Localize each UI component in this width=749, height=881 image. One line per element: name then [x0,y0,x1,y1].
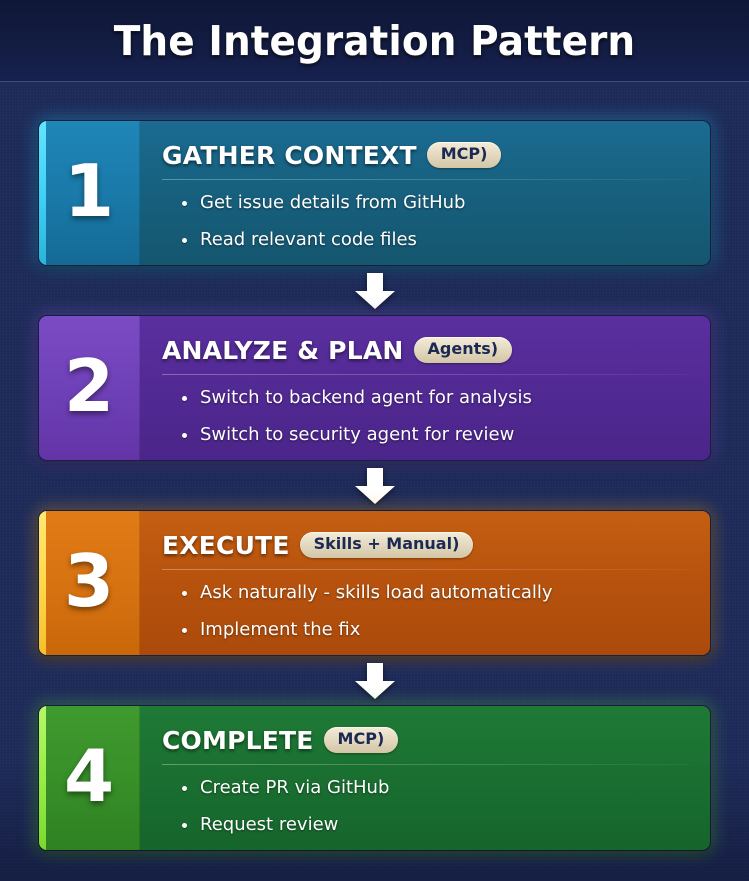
step-badge: MCP) [324,727,399,753]
step-number-panel: 4 [39,706,140,850]
step-body: COMPLETEMCP)Create PR via GitHubRequest … [140,706,710,850]
slide-canvas: The Integration Pattern 1GATHER CONTEXTM… [0,0,749,881]
step-list: 1GATHER CONTEXTMCP)Get issue details fro… [0,82,749,851]
step-card-3[interactable]: 3EXECUTESkills + Manual)Ask naturally - … [38,510,711,656]
step-body: GATHER CONTEXTMCP)Get issue details from… [140,121,710,265]
step-bullet: Switch to backend agent for analysis [180,387,690,410]
step-bullet-list: Create PR via GitHubRequest review [162,765,690,836]
step-heading: ANALYZE & PLAN [162,336,404,365]
step-bullet: Request review [180,814,690,837]
step-heading-row: ANALYZE & PLANAgents) [162,335,690,365]
step-heading-row: GATHER CONTEXTMCP) [162,140,690,170]
step-bullet: Switch to security agent for review [180,424,690,447]
step-badge: Agents) [414,337,513,363]
step-body: EXECUTESkills + Manual)Ask naturally - s… [140,511,710,655]
step-bullet-list: Ask naturally - skills load automaticall… [162,570,690,641]
step-heading: EXECUTE [162,531,290,560]
step-badge: MCP) [427,142,502,168]
arrow-down-icon [353,468,397,504]
step-number-panel: 1 [39,121,140,265]
step-connector [38,656,711,705]
step-connector [38,461,711,510]
step-bullet-list: Switch to backend agent for analysisSwit… [162,375,690,446]
step-card-4[interactable]: 4COMPLETEMCP)Create PR via GitHubRequest… [38,705,711,851]
step-connector [38,266,711,315]
slide-header: The Integration Pattern [0,0,749,82]
step-number: 2 [64,350,114,422]
step-number: 4 [64,740,114,812]
step-heading-row: EXECUTESkills + Manual) [162,530,690,560]
step-number-panel: 2 [39,316,140,460]
page-title: The Integration Pattern [114,17,635,65]
step-bullet: Ask naturally - skills load automaticall… [180,582,690,605]
step-number: 3 [64,545,114,617]
step-bullet: Implement the fix [180,619,690,642]
step-body: ANALYZE & PLANAgents)Switch to backend a… [140,316,710,460]
step-bullet: Get issue details from GitHub [180,192,690,215]
arrow-down-icon [353,663,397,699]
step-bullet: Read relevant code files [180,229,690,252]
arrow-down-icon [353,273,397,309]
step-card-1[interactable]: 1GATHER CONTEXTMCP)Get issue details fro… [38,120,711,266]
step-heading: COMPLETE [162,726,314,755]
step-card-2[interactable]: 2ANALYZE & PLANAgents)Switch to backend … [38,315,711,461]
step-number: 1 [64,155,114,227]
step-bullet-list: Get issue details from GitHubRead releva… [162,180,690,251]
step-bullet: Create PR via GitHub [180,777,690,800]
step-number-panel: 3 [39,511,140,655]
step-heading-row: COMPLETEMCP) [162,725,690,755]
step-heading: GATHER CONTEXT [162,141,417,170]
step-badge: Skills + Manual) [300,532,474,558]
